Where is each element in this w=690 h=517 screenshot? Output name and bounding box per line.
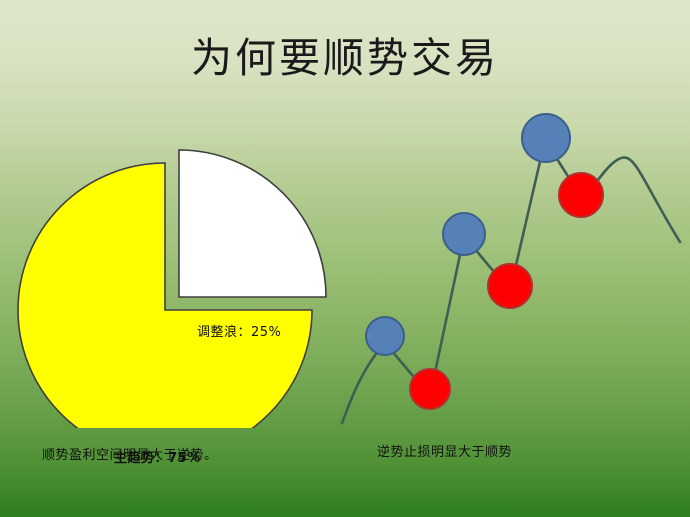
pie-label-adjustment-wave: 调整浪：25% [197,321,281,340]
pie-chart-svg [10,108,340,428]
caption-left: 顺势盈利空间明显大于逆势。 [42,444,218,463]
peak-marker-3[interactable] [522,114,570,162]
trough-marker-2[interactable] [488,264,532,308]
caption-right: 逆势止损明显大于顺势 [377,441,512,460]
wave-line-chart-svg [330,108,690,428]
pie-chart: 调整浪：25% 主趋势：75% [10,108,340,428]
wave-line-chart [330,108,690,428]
pie-slice-adjustment-wave[interactable] [179,150,326,297]
page-title: 为何要顺势交易 [0,32,690,84]
peak-marker-1[interactable] [366,317,404,355]
peak-marker-2[interactable] [443,213,485,255]
slide-canvas: 为何要顺势交易 调整浪：25% 主趋势：75% 顺势盈利空间明显大于逆势。 逆势… [0,0,690,517]
trough-marker-1[interactable] [410,369,450,409]
trough-marker-3[interactable] [559,173,603,217]
